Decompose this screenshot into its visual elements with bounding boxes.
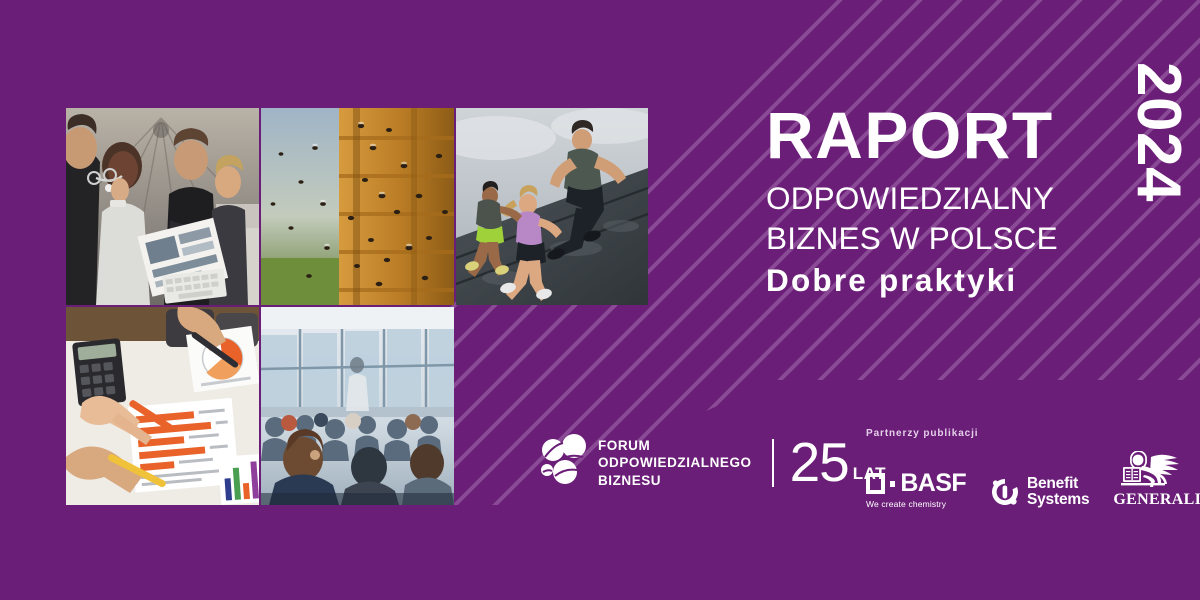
basf-logo-row: BASF [866,473,966,494]
subtitle-line-1: ODPOWIEDZIALNY [766,179,1066,218]
fob-wordmark-line-3: BIZNESU [598,472,752,489]
basf-tagline: We create chemistry [866,499,966,509]
fob-circles-icon [541,434,589,492]
benefit-systems-icon [990,477,1020,507]
vertical-divider [772,439,774,487]
basf-dot-icon [890,481,895,487]
year-label: 2024 [1126,32,1190,232]
photo-audience [261,307,454,505]
basf-wordmark: BASF [900,473,966,494]
partners-label: Partnerzy publikacji [866,428,1166,439]
generali-wordmark: GENERALI [1113,491,1185,509]
partner-logo-benefit-systems: Benefit Systems [990,476,1089,509]
fob-wordmark-line-1: FORUM [598,437,752,454]
fob-wordmark-line-2: ODPOWIEDZIALNEGO [598,454,752,471]
page-title: RAPORT [766,104,1066,167]
benefit-systems-wordmark: Benefit Systems [1027,476,1089,509]
subtitle-good-practices: Dobre praktyki [766,261,1066,300]
photo-obstacle [456,108,648,305]
partner-logo-basf: BASF We create chemistry [866,473,966,509]
subtitle-line-2: BIZNES W POLSCE [766,219,1066,258]
basf-square-icon [866,473,885,494]
fob-wordmark: FORUM ODPOWIEDZIALNEGO BIZNESU [598,437,752,489]
headline-block: RAPORT ODPOWIEDZIALNY BIZNES W POLSCE Do… [766,104,1066,300]
partner-logo-generali: GENERALI [1113,451,1185,509]
poster-canvas: RAPORT ODPOWIEDZIALNY BIZNES W POLSCE Do… [0,0,1200,600]
anniversary-number: 25 [790,440,849,485]
generali-winged-lion-icon [1117,451,1181,489]
photo-bees [261,108,454,305]
benefit-wordmark-line-1: Benefit [1027,476,1089,493]
partner-logos: BASF We create chemistry Benefit Systems [866,453,1166,509]
photo-charts [66,307,259,505]
partners-section: Partnerzy publikacji BASF We create chem… [866,428,1166,509]
photo-meeting [66,108,259,305]
benefit-wordmark-line-2: Systems [1027,492,1089,509]
fob-logo-lockup: FORUM ODPOWIEDZIALNEGO BIZNESU 25 LAT [541,428,886,498]
